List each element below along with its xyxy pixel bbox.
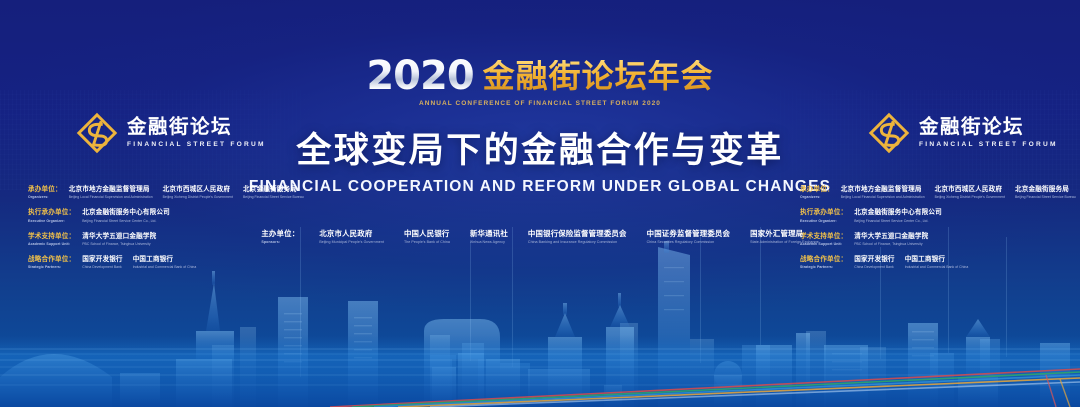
- main-sponsor-cn: 北京市人民政府: [319, 229, 384, 238]
- sponsor-entity-en: Beijing Xicheng District People's Govern…: [935, 195, 1005, 199]
- event-year: 2020: [366, 56, 473, 96]
- sponsor-entity: 北京金融街服务中心有限公司 Beijing Financial Street S…: [82, 209, 170, 223]
- sponsor-entity-cn: 国家开发银行: [82, 256, 122, 264]
- sponsor-row-label: 战略合作单位： Strategic Partners:: [800, 256, 847, 270]
- sponsor-row: 战略合作单位： Strategic Partners: 国家开发银行 China…: [800, 256, 1080, 270]
- sponsor-row-label: 战略合作单位： Strategic Partners:: [28, 256, 75, 270]
- sponsor-entity: 北京金融街服务局 Beijing Financial Street Servic…: [243, 186, 304, 200]
- main-sponsor-entity: 北京市人民政府 Beijing Municipal People's Gover…: [319, 229, 384, 244]
- sponsor-label-en: Organizers:: [800, 195, 834, 200]
- sponsor-entity: 国家开发银行 China Development Bank: [82, 256, 122, 270]
- sponsor-entity: 北京金融街服务中心有限公司 Beijing Financial Street S…: [854, 209, 942, 223]
- sponsor-label-en: Strategic Partners:: [800, 265, 847, 270]
- brand-name-en: FINANCIAL STREET FORUM: [127, 141, 266, 148]
- sponsor-entity-cn: 北京市西城区人民政府: [163, 186, 233, 194]
- sponsor-entity-en: Industrial and Commercial Bank of China: [133, 265, 197, 269]
- sponsor-entity-en: Beijing Local Financial Supervision and …: [841, 195, 925, 199]
- sponsor-entity-en: China Development Bank: [82, 265, 122, 269]
- sponsor-block-right: 承办单位： Organizers: 北京市地方金融监督管理局 Beijing L…: [800, 186, 1080, 270]
- sponsor-label-en: Strategic Partners:: [28, 265, 75, 270]
- sponsor-entity-en: Beijing Financial Street Service Bureau: [1015, 195, 1076, 199]
- sponsor-entity-en: Beijing Financial Street Service Center …: [82, 219, 170, 223]
- sponsor-entity-cn: 中国工商银行: [133, 256, 197, 264]
- main-sponsor-en: The People's Bank of China: [404, 240, 450, 245]
- main-sponsor-en: China Banking and Insurance Regulatory C…: [528, 240, 627, 245]
- sponsor-row-label: 承办单位： Organizers:: [800, 186, 834, 200]
- financial-street-forum-emblem-icon: [868, 112, 910, 154]
- sponsor-entity-en: Industrial and Commercial Bank of China: [905, 265, 969, 269]
- main-sponsor-cn: 中国人民银行: [404, 229, 450, 238]
- sponsor-entity-en: Beijing Financial Street Service Bureau: [243, 195, 304, 199]
- sponsor-label-en: Executive Organizer:: [800, 219, 847, 224]
- sponsor-entity-cn: 国家开发银行: [854, 256, 894, 264]
- main-sponsor-en: Beijing Municipal People's Government: [319, 240, 384, 245]
- sponsor-entity-cn: 中国工商银行: [905, 256, 969, 264]
- main-sponsor-entity: 中国证券监督管理委员会 China Securities Regulatory …: [647, 229, 731, 244]
- brand-logo-left: 金融街论坛 FINANCIAL STREET FORUM: [76, 112, 266, 154]
- sponsor-row-label: 执行承办单位： Executive Organizer:: [800, 209, 847, 223]
- main-sponsor-entity: 国家外汇管理局 State Administration of Foreign …: [750, 229, 819, 244]
- event-header: 2020 金融街论坛年会 ANNUAL CONFERENCE OF FINANC…: [0, 56, 1080, 107]
- sponsor-label-cn: 执行承办单位：: [28, 209, 75, 217]
- sponsor-label-cn: 战略合作单位：: [800, 256, 847, 264]
- main-sponsor-cn: 中国银行保险监督管理委员会: [528, 229, 627, 238]
- sponsor-entity-en: Beijing Xicheng District People's Govern…: [163, 195, 233, 199]
- sponsor-row: 承办单位： Organizers: 北京市地方金融监督管理局 Beijing L…: [28, 186, 320, 200]
- sponsor-row-label: 承办单位： Organizers:: [28, 186, 62, 200]
- sponsor-entity-cn: 北京金融街服务中心有限公司: [854, 209, 942, 217]
- sponsor-entity-en: Beijing Local Financial Supervision and …: [69, 195, 153, 199]
- brand-name-cn: 金融街论坛: [919, 118, 1058, 138]
- sponsor-entity-cn: 北京金融街服务局: [243, 186, 304, 194]
- main-sponsor-en: Xinhua News Agency: [470, 240, 508, 245]
- ground-light-streaks: [0, 335, 1080, 407]
- sponsor-label-cn: 承办单位：: [800, 186, 834, 194]
- main-sponsors-strip: 主办单位： Sponsors: 北京市人民政府 Beijing Municipa…: [0, 229, 1080, 244]
- sponsor-row: 执行承办单位： Executive Organizer: 北京金融街服务中心有限…: [800, 209, 1080, 223]
- sponsor-entity-cn: 北京金融街服务局: [1015, 186, 1076, 194]
- sponsor-entity-en: Beijing Financial Street Service Center …: [854, 219, 942, 223]
- sponsor-entity: 中国工商银行 Industrial and Commercial Bank of…: [905, 256, 969, 270]
- sponsor-entity: 北京市西城区人民政府 Beijing Xicheng District Peop…: [163, 186, 233, 200]
- main-sponsor-en: China Securities Regulatory Commission: [647, 240, 731, 245]
- sponsor-label-cn: 执行承办单位：: [800, 209, 847, 217]
- main-sponsor-entity: 新华通讯社 Xinhua News Agency: [470, 229, 508, 244]
- sponsor-label-cn: 战略合作单位：: [28, 256, 75, 264]
- main-sponsor-entity: 中国银行保险监督管理委员会 China Banking and Insuranc…: [528, 229, 627, 244]
- main-sponsor-cn: 中国证券监督管理委员会: [647, 229, 731, 238]
- event-title-cn: 金融街论坛年会: [483, 60, 714, 92]
- sponsor-block-left: 承办单位： Organizers: 北京市地方金融监督管理局 Beijing L…: [28, 186, 320, 270]
- sponsor-entity: 中国工商银行 Industrial and Commercial Bank of…: [133, 256, 197, 270]
- sponsor-row: 战略合作单位： Strategic Partners: 国家开发银行 China…: [28, 256, 320, 270]
- conference-backdrop: 2020 金融街论坛年会 ANNUAL CONFERENCE OF FINANC…: [0, 0, 1080, 407]
- sponsor-label-en: Executive Organizer:: [28, 219, 75, 224]
- sponsor-entity-en: China Development Bank: [854, 265, 894, 269]
- sponsor-row: 承办单位： Organizers: 北京市地方金融监督管理局 Beijing L…: [800, 186, 1080, 200]
- main-sponsors-label: 主办单位： Sponsors:: [261, 229, 299, 244]
- sponsor-entity: 北京金融街服务局 Beijing Financial Street Servic…: [1015, 186, 1076, 200]
- brand-logo-right: 金融街论坛 FINANCIAL STREET FORUM: [868, 112, 1058, 154]
- main-sponsor-entity: 中国人民银行 The People's Bank of China: [404, 229, 450, 244]
- sponsor-entity-cn: 北京市西城区人民政府: [935, 186, 1005, 194]
- sponsor-row-label: 执行承办单位： Executive Organizer:: [28, 209, 75, 223]
- sponsor-entity: 北京市地方金融监督管理局 Beijing Local Financial Sup…: [69, 186, 153, 200]
- main-sponsors-label-en: Sponsors:: [261, 240, 299, 245]
- sponsor-entity: 北京市西城区人民政府 Beijing Xicheng District Peop…: [935, 186, 1005, 200]
- brand-name-cn: 金融街论坛: [127, 118, 266, 138]
- sponsor-entity-cn: 北京金融街服务中心有限公司: [82, 209, 170, 217]
- sponsor-entity-cn: 北京市地方金融监督管理局: [69, 186, 153, 194]
- main-sponsor-cn: 国家外汇管理局: [750, 229, 819, 238]
- brand-name-en: FINANCIAL STREET FORUM: [919, 141, 1058, 148]
- sponsor-entity: 国家开发银行 China Development Bank: [854, 256, 894, 270]
- sponsor-row: 执行承办单位： Executive Organizer: 北京金融街服务中心有限…: [28, 209, 320, 223]
- sponsor-label-cn: 承办单位：: [28, 186, 62, 194]
- sponsor-entity-cn: 北京市地方金融监督管理局: [841, 186, 925, 194]
- main-sponsor-en: State Administration of Foreign Exchange: [750, 240, 819, 245]
- main-sponsors-label-cn: 主办单位：: [261, 229, 299, 238]
- main-sponsor-cn: 新华通讯社: [470, 229, 508, 238]
- sponsor-label-en: Organizers:: [28, 195, 62, 200]
- sponsor-entity: 北京市地方金融监督管理局 Beijing Local Financial Sup…: [841, 186, 925, 200]
- financial-street-forum-emblem-icon: [76, 112, 118, 154]
- event-title-en: ANNUAL CONFERENCE OF FINANCIAL STREET FO…: [0, 100, 1080, 107]
